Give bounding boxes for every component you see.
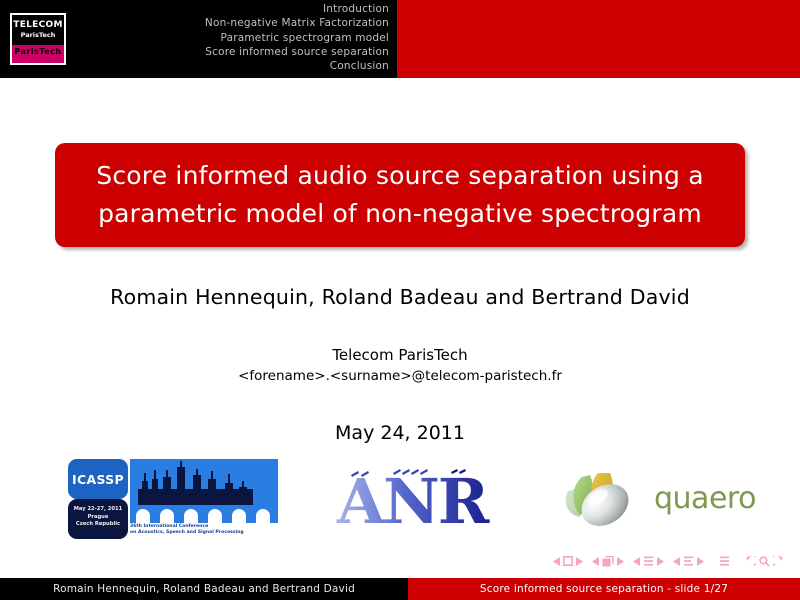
frame-navigation-group[interactable] <box>592 556 624 567</box>
slide-footer: Romain Hennequin, Roland Badeau and Bert… <box>0 578 800 600</box>
current-frame-icon[interactable] <box>602 556 614 567</box>
affiliation-institution: Telecom ParisTech <box>0 345 800 366</box>
back-icon[interactable] <box>745 556 756 567</box>
logo-magenta-band: ParisTech <box>12 45 64 63</box>
icassp-dates: May 22-27, 2011 <box>68 506 128 514</box>
charles-bridge-icon <box>130 505 278 523</box>
previous-slide-icon[interactable] <box>553 557 560 566</box>
telecom-paristech-logo: TELECOM ParisTech ParisTech <box>10 13 66 65</box>
quaero-wordmark: quaero <box>654 481 756 516</box>
title-line-2: parametric model of non-negative spectro… <box>98 195 702 233</box>
icassp-logo: ICASSP May 22-27, 2011 Prague Czech Repu… <box>68 455 278 540</box>
affiliation-email: <forename>.<surname>@telecom-paristech.f… <box>0 366 800 386</box>
prague-castle-icon <box>130 459 278 505</box>
next-slide-icon[interactable] <box>576 557 583 566</box>
subsection-navigation-group[interactable] <box>633 556 664 566</box>
presentation-date: May 24, 2011 <box>0 422 800 444</box>
search-icon[interactable] <box>759 556 770 567</box>
next-frame-icon[interactable] <box>617 557 624 566</box>
previous-subsection-icon[interactable] <box>633 557 640 566</box>
anr-logo: ANR <box>335 465 505 531</box>
icassp-venue-block: May 22-27, 2011 Prague Czech Republic <box>68 499 128 539</box>
author-list: Romain Hennequin, Roland Badeau and Bert… <box>0 285 800 309</box>
icassp-country: Czech Republic <box>68 521 128 529</box>
nav-item-introduction[interactable]: Introduction <box>89 2 389 16</box>
previous-frame-icon[interactable] <box>592 557 599 566</box>
footer-authors: Romain Hennequin, Roland Badeau and Bert… <box>0 578 408 600</box>
quaero-mark-icon <box>558 461 650 533</box>
history-navigation-group[interactable] <box>745 556 784 567</box>
slide-navigation-group[interactable] <box>553 556 583 566</box>
current-slide-icon[interactable] <box>563 556 573 566</box>
nav-item-nmf[interactable]: Non-negative Matrix Factorization <box>89 16 389 30</box>
footer-status: Score informed source separation - slide… <box>408 578 800 600</box>
icassp-badge-text: ICASSP <box>68 459 128 499</box>
quaero-logo: quaero <box>558 461 768 533</box>
slide-header: TELECOM ParisTech ParisTech Introduction… <box>0 0 800 78</box>
icassp-city: Prague <box>68 514 128 522</box>
nav-item-score-informed-source-separation[interactable]: Score informed source separation <box>89 45 389 59</box>
previous-section-icon[interactable] <box>673 557 680 566</box>
affiliation-block: Telecom ParisTech <forename>.<surname>@t… <box>0 345 800 386</box>
forward-icon[interactable] <box>773 556 784 567</box>
current-section-icon[interactable] <box>683 556 694 566</box>
logo-telecom-text: TELECOM <box>12 20 64 30</box>
header-left-panel: TELECOM ParisTech ParisTech Introduction… <box>0 0 397 78</box>
nav-item-conclusion[interactable]: Conclusion <box>89 59 389 73</box>
title-line-1: Score informed audio source separation u… <box>96 157 703 195</box>
logo-band-text: ParisTech <box>12 47 64 56</box>
presentation-title-box: Score informed audio source separation u… <box>55 143 745 247</box>
next-subsection-icon[interactable] <box>657 557 664 566</box>
icassp-bridge-panel <box>130 505 278 523</box>
logo-paristech-text: ParisTech <box>12 31 64 39</box>
current-subsection-icon[interactable] <box>643 556 654 566</box>
beamer-navigation-symbols[interactable] <box>553 552 784 570</box>
next-section-icon[interactable] <box>697 557 704 566</box>
icassp-caption: 36th International Conference on Acousti… <box>130 524 278 536</box>
section-navigation-group[interactable] <box>673 556 704 566</box>
icassp-skyline-panel <box>130 459 278 505</box>
outline-navigation[interactable]: Introduction Non-negative Matrix Factori… <box>89 2 389 73</box>
anr-wordmark-icon: ANR <box>335 465 505 531</box>
sponsor-logo-row: ICASSP May 22-27, 2011 Prague Czech Repu… <box>0 455 800 545</box>
table-of-contents-icon[interactable] <box>719 556 730 566</box>
svg-text:ANR: ANR <box>336 465 490 531</box>
icassp-caption-line-2: on Acoustics, Speech and Signal Processi… <box>130 530 278 536</box>
nav-item-parametric-spectrogram-model[interactable]: Parametric spectrogram model <box>89 31 389 45</box>
